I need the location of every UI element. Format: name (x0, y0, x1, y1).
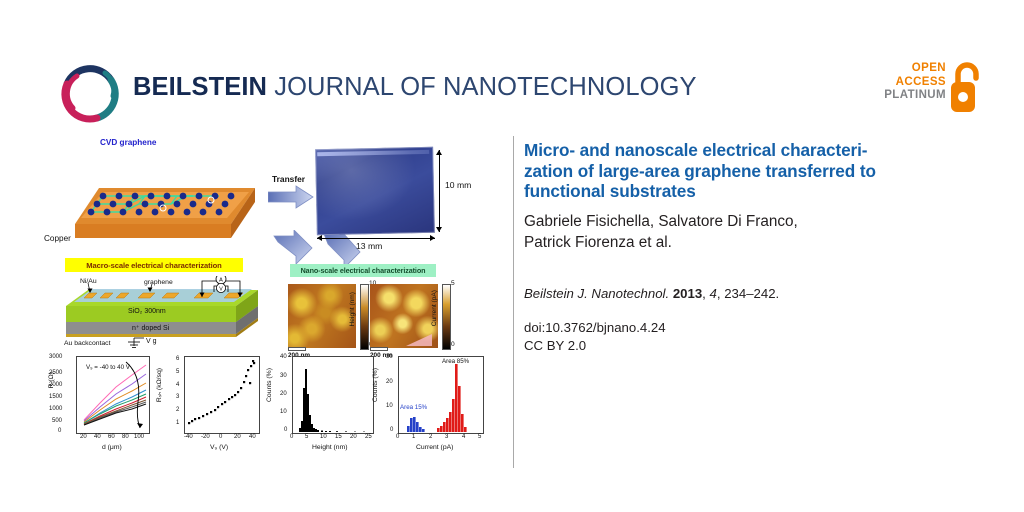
plot4-xtick-3: 3 (445, 434, 448, 440)
cvd-graphene-label: CVD graphene (100, 138, 156, 147)
plot4-xtick-0: 0 (396, 434, 399, 440)
current-histogram-bars (398, 356, 482, 432)
sample-height-label: 10 mm (445, 180, 471, 190)
plot3-xtick-2: 10 (320, 434, 327, 440)
plot4-ytick-1: 10 (386, 403, 393, 409)
plot4-blue-annotation: Area 15% (400, 404, 427, 411)
authors-line2: Patrick Fiorenza et al. (524, 234, 672, 251)
plot3-ytick-1: 10 (280, 409, 287, 415)
authors-line1: Gabriele Fisichella, Salvatore Di Franco… (524, 213, 798, 230)
plot4-ytick-3: 30 (386, 354, 393, 360)
chart-sheet-resistance-vs-gate: Rₛₕ (kΩ/sq) V₉ (V) 1 2 3 4 5 6 -40 -20 0… (156, 354, 264, 462)
plot1-ytick-6: 3000 (49, 354, 62, 360)
plot2-ytick-1: 2 (176, 407, 179, 413)
plot2-ytick-3: 4 (176, 382, 179, 388)
open-access-line2: ACCESS (884, 76, 946, 90)
plot2-ylabel: Rₛₕ (kΩ/sq) (156, 368, 164, 402)
article-metadata: Micro- and nanoscale electrical characte… (524, 140, 994, 355)
contact-label: Ni/Au (80, 278, 97, 285)
beilstein-circle-logo (53, 56, 127, 130)
plot2-xtick-3: 20 (234, 434, 241, 440)
copper-label: Copper (44, 234, 71, 243)
plot1-xtick-1: 40 (94, 434, 101, 440)
plot3-xtick-3: 15 (335, 434, 342, 440)
plot2-ytick-2: 3 (176, 394, 179, 400)
article-title-line3: functional substrates (524, 181, 696, 201)
plot3-ytick-4: 40 (280, 354, 287, 360)
sample-width-label: 13 mm (356, 241, 382, 251)
substrate-label: n⁺ doped Si (132, 324, 169, 332)
sample-width-dimension-arrow (317, 238, 435, 239)
journal-name-bold: BEILSTEIN (133, 73, 267, 101)
plot3-xtick-1: 5 (305, 434, 308, 440)
plot2-xtick-1: -20 (201, 434, 210, 440)
column-divider (513, 136, 514, 468)
plot4-xtick-1: 1 (412, 434, 415, 440)
citation-pages: 234–242. (724, 286, 779, 301)
open-padlock-icon (948, 60, 982, 116)
open-access-line1: OPEN (884, 62, 946, 76)
sample-height-dimension-arrow (439, 150, 440, 232)
plot1-xtick-2: 60 (108, 434, 115, 440)
plot3-xtick-5: 25 (365, 434, 372, 440)
current-colorbar (442, 284, 451, 350)
oxide-label: SiO₂ 300nm (128, 308, 166, 315)
plot1-xtick-3: 80 (122, 434, 129, 440)
current-colorbar-max: 5 (451, 280, 455, 287)
journal-name-light: JOURNAL OF NANOTECHNOLOGY (267, 73, 697, 101)
journal-title: BEILSTEIN JOURNAL OF NANOTECHNOLOGY (133, 73, 697, 102)
plot2-xlabel: V₉ (V) (210, 444, 228, 451)
plot1-ytick-3: 1500 (49, 394, 62, 400)
nano-scale-banner: Nano-scale electrical characterization (290, 264, 436, 277)
plot2-xtick-4: 40 (249, 434, 256, 440)
citation-journal: Beilstein J. Nanotechnol. (524, 286, 669, 301)
afm-height-image (288, 284, 356, 348)
article-title-line2: zation of large-area graphene transferre… (524, 161, 876, 181)
plot4-xtick-5: 5 (478, 434, 481, 440)
plot2-ytick-5: 6 (176, 356, 179, 362)
plot4-xtick-2: 2 (429, 434, 432, 440)
chart-resistance-vs-distance: R (Ω) d (μm) 0 500 1000 1500 2000 2500 3… (46, 354, 154, 462)
chart-height-histogram: Counts (%) Height (nm) 0 10 20 30 40 0 5… (266, 354, 376, 462)
article-title: Micro- and nanoscale electrical characte… (524, 140, 994, 202)
plot1-annotation: V₉ = -40 to 40 V (86, 364, 130, 371)
plot4-xlabel: Current (pA) (416, 444, 453, 451)
open-access-line3: PLATINUM (884, 89, 946, 103)
article-citation: Beilstein J. Nanotechnol. 2013, 4, 234–2… (524, 286, 994, 301)
gate-voltage-label: V g (146, 338, 157, 345)
article-license: CC BY 2.0 (524, 337, 994, 355)
graphene-label: graphene (144, 279, 173, 286)
plot3-xtick-0: 0 (290, 434, 293, 440)
open-access-badge: OPEN ACCESS PLATINUM (876, 60, 982, 122)
plot2-xtick-0: -40 (184, 434, 193, 440)
current-colorbar-min: 0 (451, 341, 455, 348)
article-title-line1: Micro- and nanoscale electrical characte… (524, 140, 867, 160)
plot2-ytick-0: 1 (176, 420, 179, 426)
plot3-ylabel: Counts (%) (266, 368, 273, 402)
sheet-resistance-points (184, 356, 258, 432)
height-colorbar (360, 284, 369, 350)
open-access-text: OPEN ACCESS PLATINUM (884, 62, 946, 103)
article-authors: Gabriele Fisichella, Salvatore Di Franco… (524, 211, 994, 253)
plot4-ytick-2: 20 (386, 379, 393, 385)
plot3-xtick-4: 20 (350, 434, 357, 440)
macro-scale-banner: Macro-scale electrical characterization (65, 258, 243, 272)
plot3-ytick-0: 0 (284, 427, 287, 433)
plot1-xtick-0: 20 (80, 434, 87, 440)
plot3-ytick-2: 20 (280, 391, 287, 397)
citation-year: 2013 (673, 286, 702, 301)
graphical-abstract-figure: CVD graphene Copper Transfer 10 mm 13 mm… (40, 138, 495, 468)
plot1-ytick-4: 2000 (49, 382, 62, 388)
masthead: BEILSTEIN JOURNAL OF NANOTECHNOLOGY OPEN… (0, 0, 1024, 130)
height-histogram-bars (292, 356, 372, 432)
transferred-graphene-sample-photo (315, 147, 435, 235)
plot1-ytick-0: 0 (58, 428, 61, 434)
plot1-ytick-1: 500 (52, 418, 62, 424)
plot4-xtick-4: 4 (462, 434, 465, 440)
svg-text:A: A (219, 278, 223, 284)
plot4-ytick-0: 0 (390, 427, 393, 433)
citation-volume: 4 (710, 286, 717, 301)
plot4-red-annotation: Area 85% (442, 358, 469, 365)
backcontact-label: Au backcontact (64, 340, 110, 347)
plot2-ytick-4: 5 (176, 369, 179, 375)
plot1-ytick-2: 1000 (49, 406, 62, 412)
article-doi[interactable]: doi:10.3762/bjnano.4.24 (524, 319, 994, 337)
transfer-label: Transfer (272, 174, 305, 184)
plot1-xtick-4: 100 (134, 434, 144, 440)
svg-text:V: V (219, 286, 223, 292)
plot2-xtick-2: 0 (219, 434, 222, 440)
cvd-graphene-schematic (63, 146, 263, 256)
current-colorbar-title: Current (pA) (431, 290, 438, 326)
transfer-arrow-right-icon (268, 184, 314, 210)
plot4-ylabel: Counts (%) (372, 368, 379, 402)
chart-current-histogram: Counts (%) Current (pA) 0 10 20 30 0 1 2… (372, 354, 490, 462)
afm-current-image (370, 284, 438, 348)
plot1-ytick-5: 2500 (49, 370, 62, 376)
plot1-xlabel: d (μm) (102, 444, 122, 451)
height-colorbar-title: Height (nm) (349, 292, 356, 326)
plot3-ytick-3: 30 (280, 373, 287, 379)
plot3-xlabel: Height (nm) (312, 444, 348, 451)
